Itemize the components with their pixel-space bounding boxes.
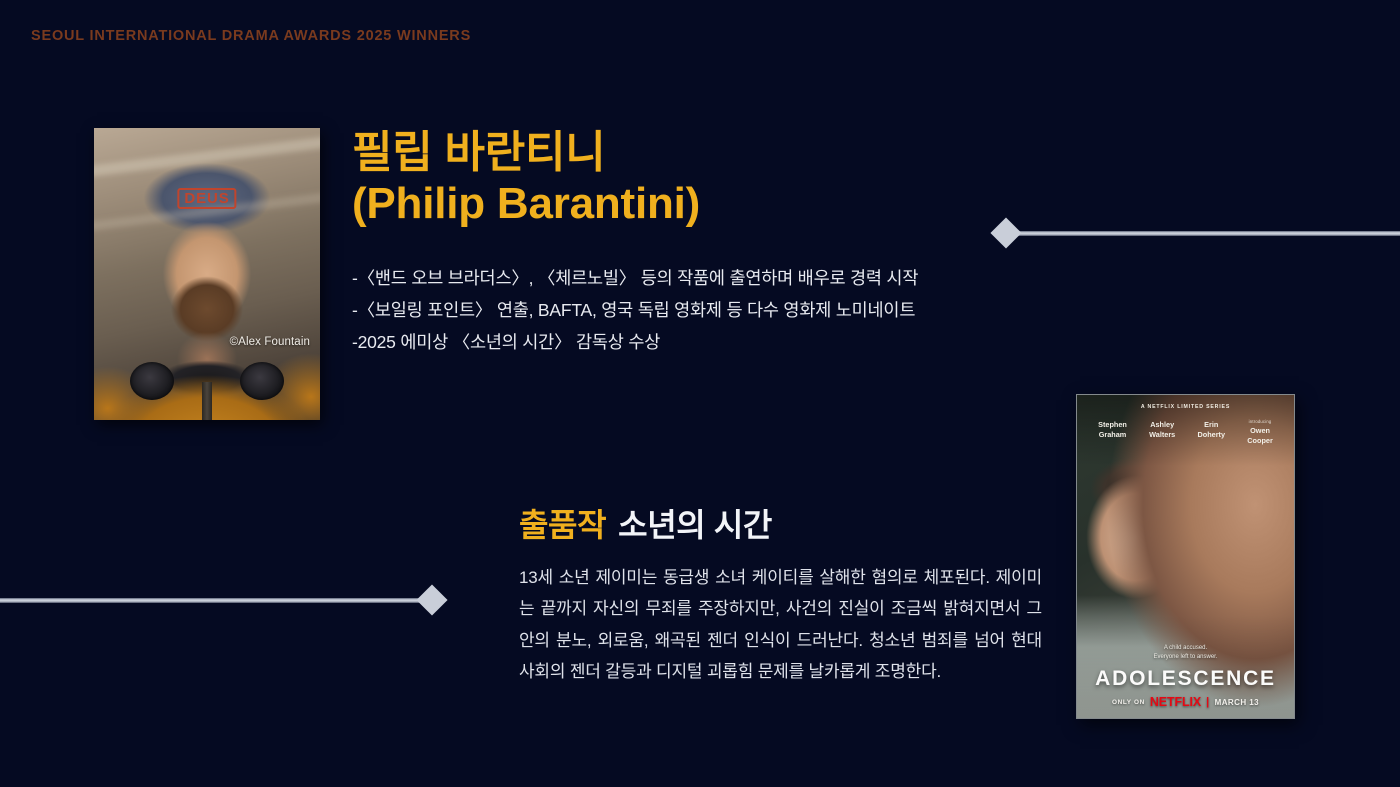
work-synopsis: 13세 소년 제이미는 동급생 소녀 케이티를 살해한 혐의로 체포된다. 제이… [519, 562, 1042, 687]
cap-logo-text: DEUS [177, 188, 236, 209]
poster-title: ADOLESCENCE [1077, 667, 1294, 691]
poster-cast-member: Erin Doherty [1197, 419, 1225, 446]
poster-cast-name: Erin Doherty [1197, 420, 1225, 439]
slide-kicker: SEOUL INTERNATIONAL DRAMA AWARDS 2025 WI… [31, 28, 471, 44]
poster-only-on-label: ONLY ON [1112, 699, 1145, 706]
poster-cast-member: Ashley Walters [1149, 419, 1175, 446]
decorative-rule-right [995, 222, 1400, 244]
poster-release-date: MARCH 13 [1215, 698, 1259, 707]
rule-line [0, 598, 425, 603]
jacket-zipper [202, 382, 212, 420]
diamond-icon [416, 584, 447, 615]
netflix-logo: NETFLIX [1150, 695, 1201, 709]
photo-credit: ©Alex Fountain [230, 336, 310, 348]
series-poster: A NETFLIX LIMITED SERIES Stephen Graham … [1076, 394, 1295, 719]
poster-cast-intro: introducing [1247, 419, 1273, 425]
decorative-rule-left [0, 589, 443, 611]
poster-cast-name: Ashley Walters [1149, 420, 1175, 439]
presentation-slide: SEOUL INTERNATIONAL DRAMA AWARDS 2025 WI… [0, 0, 1400, 787]
director-portrait-photo: DEUS ©Alex Fountain [94, 128, 320, 420]
poster-cast-name: Stephen Graham [1098, 420, 1127, 439]
poster-tagline: A child accused. Everyone left to answer… [1077, 644, 1294, 662]
person-career-bullets: -〈밴드 오브 브라더스〉, 〈체르노빌〉 등의 작품에 출연하며 배우로 경력… [352, 263, 918, 359]
person-name-heading: 필립 바란티니 (Philip Barantini) [352, 127, 700, 229]
headphone-earcup-right [240, 362, 284, 400]
poster-footer: ONLY ON NETFLIX | MARCH 13 [1077, 695, 1294, 709]
headphone-earcup-left [130, 362, 174, 400]
poster-network-strip: A NETFLIX LIMITED SERIES [1077, 404, 1294, 410]
work-heading: 출품작소년의 시간 [519, 500, 772, 546]
diamond-icon [990, 217, 1021, 248]
poster-cast-name: Owen Cooper [1247, 426, 1273, 445]
rule-line [1013, 231, 1400, 236]
poster-cast-member: introducingOwen Cooper [1247, 419, 1273, 446]
work-label: 출품작 [519, 507, 606, 543]
poster-separator: | [1206, 696, 1210, 708]
poster-cast-member: Stephen Graham [1098, 419, 1127, 446]
work-title: 소년의 시간 [618, 507, 772, 543]
poster-cast-list: Stephen Graham Ashley Walters Erin Doher… [1087, 419, 1284, 446]
